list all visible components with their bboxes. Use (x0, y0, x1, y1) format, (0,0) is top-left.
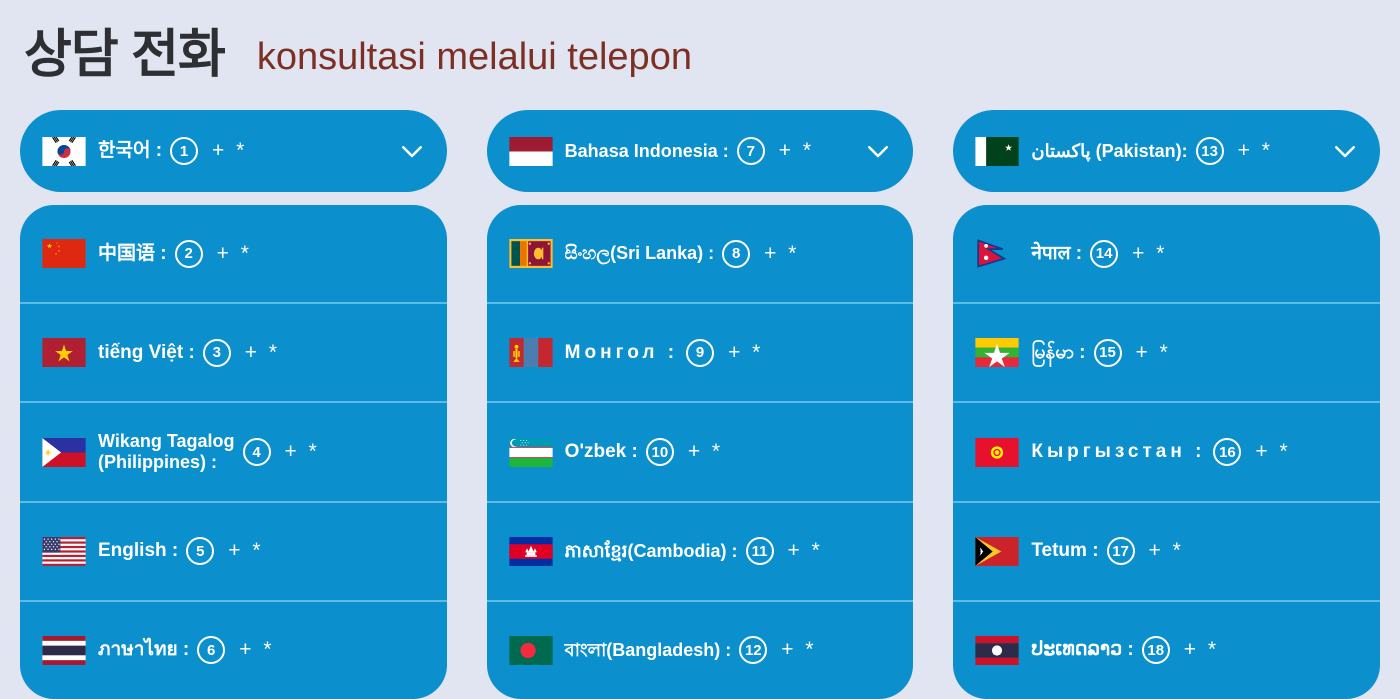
language-label: English : (98, 540, 178, 562)
language-entry: မြန်မာ :15+ * (975, 338, 1170, 367)
entry-suffix: + * (1136, 341, 1171, 365)
entry-suffix: + * (779, 139, 814, 163)
entry-suffix: + * (1238, 139, 1273, 163)
entry-suffix: + * (1149, 539, 1184, 563)
entry-number-badge: 2 (175, 240, 203, 268)
entry-suffix: + * (217, 242, 252, 266)
language-label: tiếng Việt : (98, 342, 195, 364)
bangladesh-flag (509, 636, 553, 665)
entry-number-badge: 14 (1090, 240, 1118, 268)
list-item[interactable]: 中国语 :2+ * (20, 205, 447, 302)
column-header-pill[interactable]: پاکستان (Pakistan):13+ * (953, 110, 1380, 192)
language-label: 한국어 : (98, 140, 162, 162)
entry-number-badge: 15 (1094, 339, 1122, 367)
list-item[interactable]: বাংলা(Bangladesh) :12+ * (487, 600, 914, 699)
nepal-flag (975, 239, 1019, 268)
usa-flag (42, 537, 86, 566)
entry-suffix: + * (688, 440, 723, 464)
philippines-flag (42, 438, 86, 467)
language-entry: 한국어 :1+ * (42, 137, 391, 166)
language-label: O'zbek : (565, 441, 638, 463)
entry-suffix: + * (781, 638, 816, 662)
language-label: Кыргызстан : (1031, 441, 1205, 463)
timor-leste-flag (975, 537, 1019, 566)
south-korea-flag (42, 137, 86, 166)
entry-number-badge: 3 (203, 339, 231, 367)
entry-number-badge: 18 (1142, 636, 1170, 664)
language-entry: සිංහල(Sri Lanka) :8+ * (509, 239, 800, 268)
language-label: پاکستان (Pakistan): (1031, 141, 1187, 162)
entry-suffix: + * (1184, 638, 1219, 662)
pakistan-flag (975, 137, 1019, 166)
language-entry: Tetum :17+ * (975, 537, 1183, 566)
language-columns: 한국어 :1+ *中国语 :2+ *tiếng Việt :3+ *Wikang… (0, 110, 1400, 699)
entry-suffix: + * (245, 341, 280, 365)
entry-suffix: + * (728, 341, 763, 365)
kyrgyzstan-flag (975, 438, 1019, 467)
uzbekistan-flag (509, 438, 553, 467)
list-item[interactable]: ភាសាខ្មែរ(Cambodia) :11+ * (487, 501, 914, 600)
entry-number-badge: 8 (722, 240, 750, 268)
indonesia-flag (509, 137, 553, 166)
language-column: Bahasa Indonesia :7+ *සිංහල(Sri Lanka) :… (487, 110, 914, 699)
list-item[interactable]: Wikang Tagalog (Philippines) :4+ * (20, 401, 447, 500)
list-item[interactable]: Кыргызстан :16+ * (953, 401, 1380, 500)
language-label: 中国语 : (98, 243, 167, 265)
entry-suffix: + * (228, 539, 263, 563)
language-entry: नेपाल :14+ * (975, 239, 1167, 268)
entry-suffix: + * (1255, 440, 1290, 464)
entry-suffix: + * (764, 242, 799, 266)
list-item[interactable]: O'zbek :10+ * (487, 401, 914, 500)
language-label: नेपाल : (1031, 243, 1082, 265)
entry-suffix: + * (212, 139, 247, 163)
chevron-down-icon[interactable] (1330, 136, 1360, 166)
language-entry: 中国语 :2+ * (42, 239, 252, 268)
sri-lanka-flag (509, 239, 553, 268)
entry-number-badge: 6 (197, 636, 225, 664)
chevron-down-icon[interactable] (863, 136, 893, 166)
column-header-pill[interactable]: 한국어 :1+ * (20, 110, 447, 192)
laos-flag (975, 636, 1019, 665)
entry-number-badge: 5 (186, 537, 214, 565)
china-flag (42, 239, 86, 268)
entry-suffix: + * (1132, 242, 1167, 266)
list-item[interactable]: Монгол :9+ * (487, 302, 914, 401)
myanmar-flag (975, 338, 1019, 367)
list-item[interactable]: සිංහල(Sri Lanka) :8+ * (487, 205, 914, 302)
language-label: ភាសាខ្មែរ(Cambodia) : (565, 541, 738, 562)
language-entry: Bahasa Indonesia :7+ * (509, 137, 858, 166)
entry-suffix: + * (239, 638, 274, 662)
language-entry: ภาษาไทย :6+ * (42, 636, 275, 665)
language-entry: ປະເທດລາວ :18+ * (975, 636, 1219, 665)
entry-number-badge: 11 (746, 537, 774, 565)
language-entry: English :5+ * (42, 537, 264, 566)
list-item[interactable]: tiếng Việt :3+ * (20, 302, 447, 401)
language-label: ປະເທດລາວ : (1031, 639, 1133, 661)
language-label: Bahasa Indonesia : (565, 141, 729, 162)
page-header: 상담 전화 konsultasi melalui telepon (0, 0, 1400, 110)
language-label: Tetum : (1031, 540, 1098, 562)
entry-number-badge: 13 (1196, 137, 1224, 165)
list-item[interactable]: မြန်မာ :15+ * (953, 302, 1380, 401)
list-item[interactable]: ປະເທດລາວ :18+ * (953, 600, 1380, 699)
page-title-korean: 상담 전화 (24, 29, 225, 81)
language-entry: Кыргызстан :16+ * (975, 438, 1290, 467)
language-label: සිංහල(Sri Lanka) : (565, 243, 714, 264)
entry-number-badge: 17 (1107, 537, 1135, 565)
chevron-down-icon[interactable] (397, 136, 427, 166)
language-entry: tiếng Việt :3+ * (42, 338, 280, 367)
entry-number-badge: 1 (170, 137, 198, 165)
list-item[interactable]: Tetum :17+ * (953, 501, 1380, 600)
language-label: ภาษาไทย : (98, 639, 189, 661)
language-entry: বাংলা(Bangladesh) :12+ * (509, 636, 817, 665)
language-label: Монгол : (565, 342, 678, 364)
cambodia-flag (509, 537, 553, 566)
language-label: Wikang Tagalog (Philippines) : (98, 431, 235, 472)
entry-number-badge: 12 (739, 636, 767, 664)
page-subtitle-indonesian: konsultasi melalui telepon (257, 38, 692, 76)
language-entry: ភាសាខ្មែរ(Cambodia) :11+ * (509, 537, 823, 566)
language-entry: پاکستان (Pakistan):13+ * (975, 137, 1324, 166)
entry-number-badge: 4 (243, 438, 271, 466)
entry-number-badge: 7 (737, 137, 765, 165)
language-label: বাংলা(Bangladesh) : (565, 640, 732, 661)
entry-number-badge: 10 (646, 438, 674, 466)
language-entry: O'zbek :10+ * (509, 438, 723, 467)
language-column: 한국어 :1+ *中国语 :2+ *tiếng Việt :3+ *Wikang… (20, 110, 447, 699)
column-header-pill[interactable]: Bahasa Indonesia :7+ * (487, 110, 914, 192)
language-list-card: 中国语 :2+ *tiếng Việt :3+ *Wikang Tagalog … (20, 205, 447, 699)
thailand-flag (42, 636, 86, 665)
language-list-card: සිංහල(Sri Lanka) :8+ *Монгол :9+ *O'zbek… (487, 205, 914, 699)
language-entry: Монгол :9+ * (509, 338, 764, 367)
list-item[interactable]: English :5+ * (20, 501, 447, 600)
language-entry: Wikang Tagalog (Philippines) :4+ * (42, 431, 320, 472)
list-item[interactable]: नेपाल :14+ * (953, 205, 1380, 302)
entry-suffix: + * (788, 539, 823, 563)
entry-suffix: + * (285, 440, 320, 464)
language-label: မြန်မာ : (1031, 342, 1085, 364)
entry-number-badge: 16 (1213, 438, 1241, 466)
entry-number-badge: 9 (686, 339, 714, 367)
language-list-card: नेपाल :14+ *မြန်မာ :15+ *Кыргызстан :16+… (953, 205, 1380, 699)
language-column: پاکستان (Pakistan):13+ *नेपाल :14+ *မြန်… (953, 110, 1380, 699)
list-item[interactable]: ภาษาไทย :6+ * (20, 600, 447, 699)
mongolia-flag (509, 338, 553, 367)
vietnam-flag (42, 338, 86, 367)
